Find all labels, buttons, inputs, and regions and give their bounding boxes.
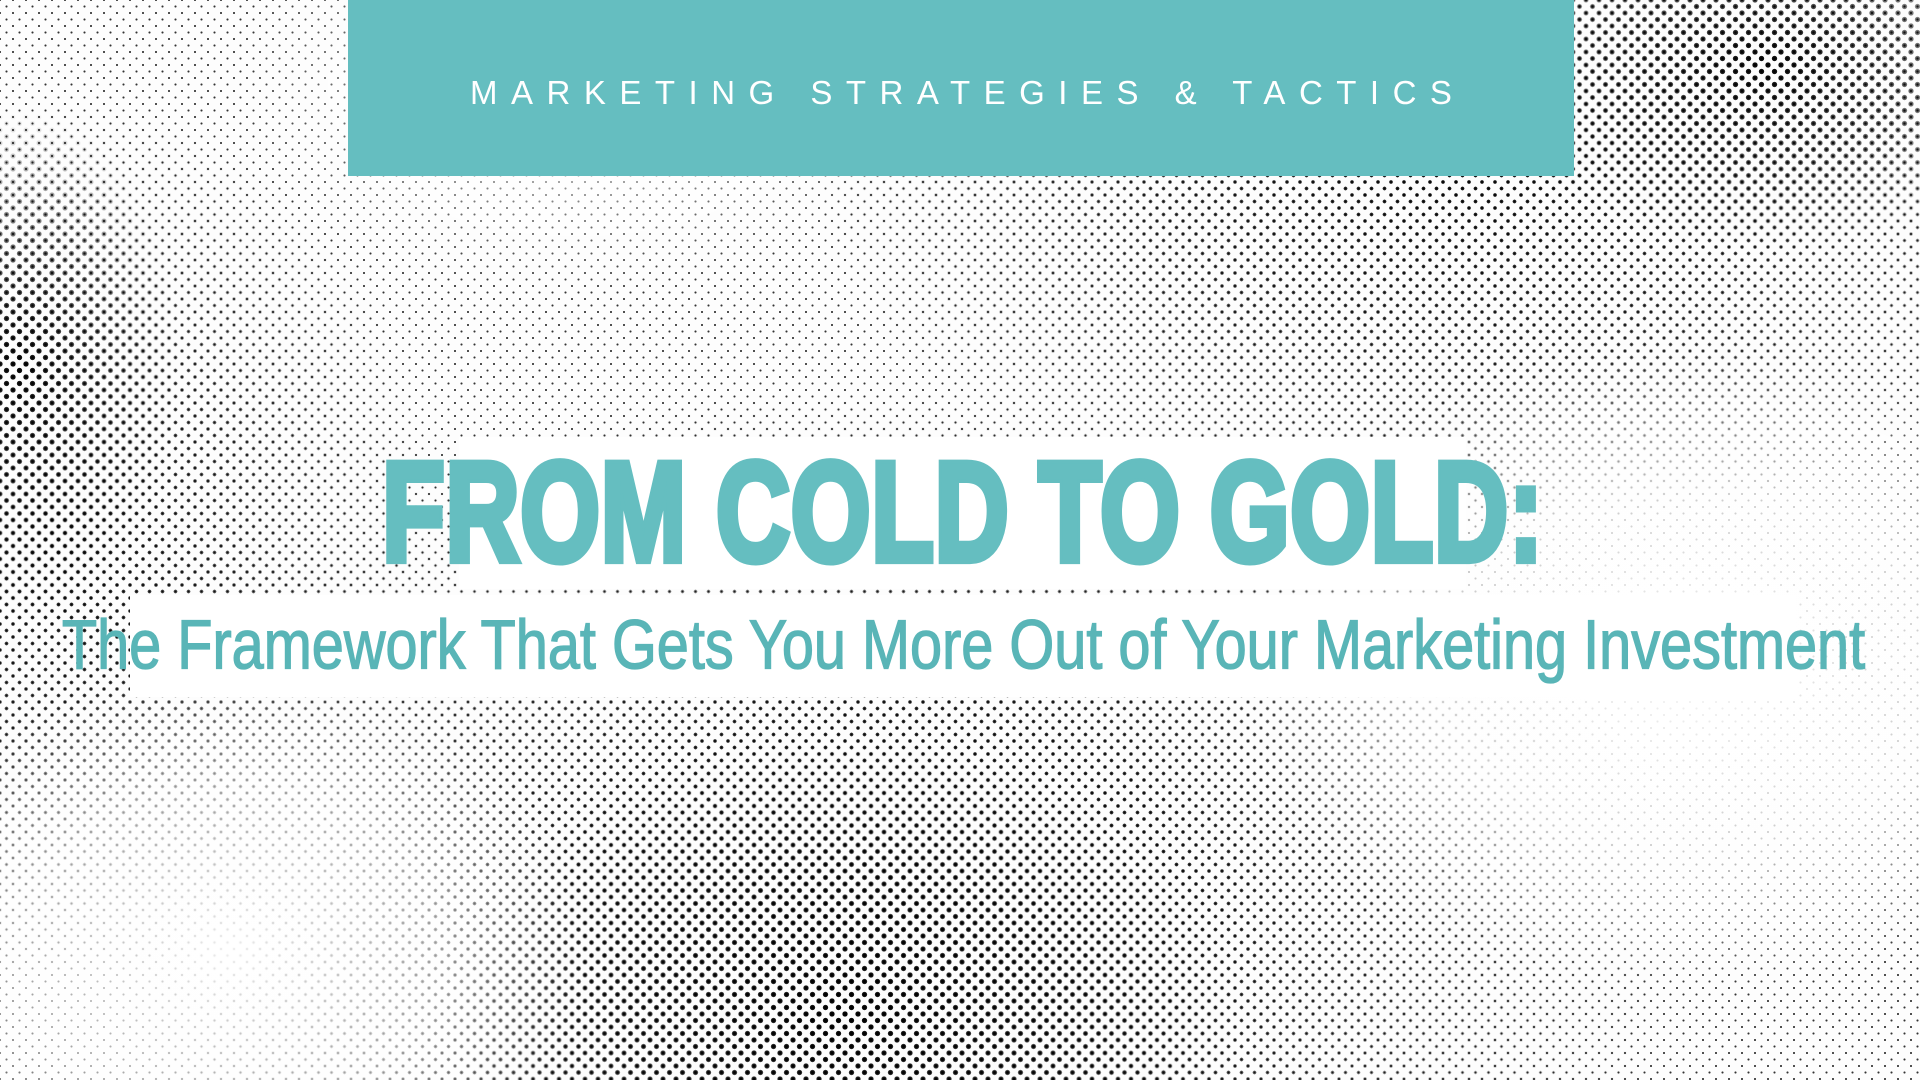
eyebrow-label: MARKETING STRATEGIES & TACTICS <box>457 62 1466 109</box>
page-title: FROM COLD TO GOLD: <box>382 443 1544 584</box>
headline-plate: FROM COLD TO GOLD: <box>459 437 1466 589</box>
subtitle-plate: The Framework That Gets You More Out of … <box>130 595 1796 697</box>
page-subtitle: The Framework That Gets You More Out of … <box>61 611 1864 680</box>
presentation-slide: MARKETING STRATEGIES & TACTICS FROM COLD… <box>0 0 1920 1080</box>
eyebrow-banner: MARKETING STRATEGIES & TACTICS <box>348 0 1574 176</box>
